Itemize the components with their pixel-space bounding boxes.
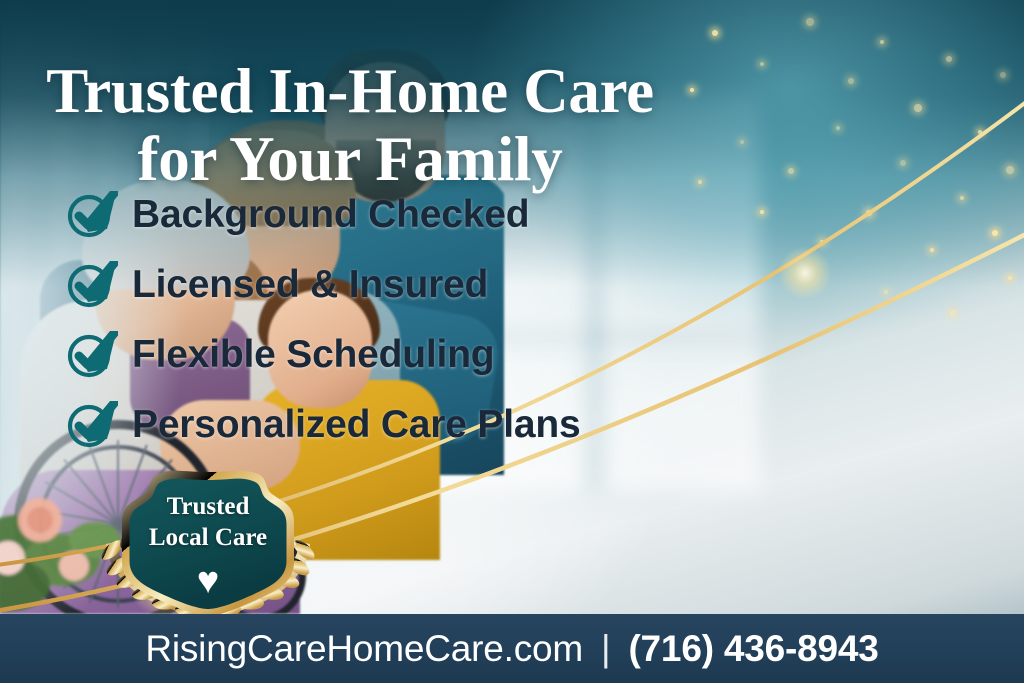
badge-text: Trusted Local Care <box>92 492 324 553</box>
advertisement-banner: Trusted In-Home Care for Your Family Bac… <box>0 0 1024 683</box>
benefit-item: Flexible Scheduling <box>66 320 580 390</box>
benefit-item: Background Checked <box>66 180 580 250</box>
benefits-list: Background Checked Licensed & Insured Fl… <box>66 180 580 460</box>
benefit-label: Personalized Care Plans <box>132 403 580 447</box>
check-circle-icon <box>66 401 118 449</box>
heart-icon: ♥ <box>92 562 324 600</box>
benefit-label: Background Checked <box>132 193 529 237</box>
benefit-item: Personalized Care Plans <box>66 390 580 460</box>
footer-separator: | <box>601 628 610 670</box>
badge-line-2: Local Care <box>149 524 267 551</box>
swoosh-flare-right <box>778 246 832 300</box>
contact-footer-bar: RisingCareHomeCare.com | (716) 436-8943 <box>0 614 1024 683</box>
badge-line-1: Trusted <box>167 493 250 520</box>
trusted-local-care-badge: Trusted Local Care ♥ <box>92 466 324 618</box>
benefit-label: Flexible Scheduling <box>132 333 494 377</box>
check-circle-icon <box>66 191 118 239</box>
check-circle-icon <box>66 331 118 379</box>
phone-number[interactable]: (716) 436-8943 <box>628 628 878 670</box>
headline-line-1: Trusted In-Home Care <box>46 56 654 126</box>
benefit-item: Licensed & Insured <box>66 250 580 320</box>
benefit-label: Licensed & Insured <box>132 263 488 307</box>
website-link[interactable]: RisingCareHomeCare.com <box>145 628 583 670</box>
check-circle-icon <box>66 261 118 309</box>
page-title: Trusted In-Home Care for Your Family <box>0 58 700 193</box>
